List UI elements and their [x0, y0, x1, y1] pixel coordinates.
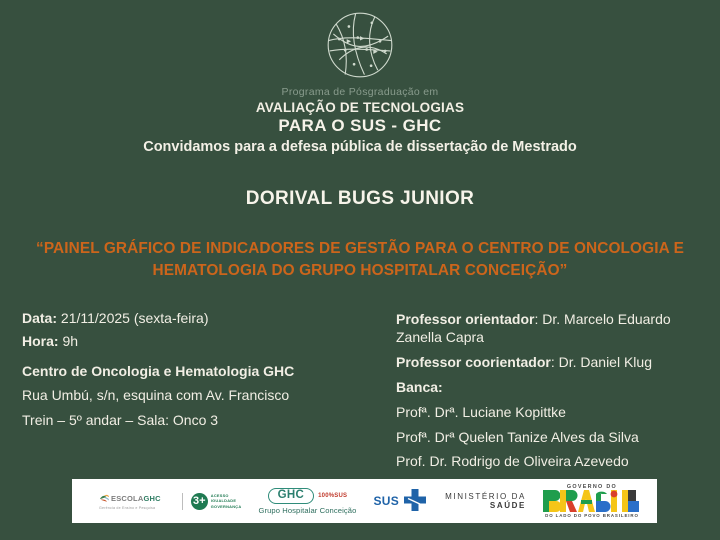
sus-cross-icon [402, 488, 428, 514]
grupo-hospitalar-conceicao-logo: GHC 100%SUS Grupo Hospitalar Conceição [258, 488, 356, 515]
date-value: 21/11/2025 (sexta-feira) [57, 310, 209, 326]
escola-ghc-logo: ESCOLAGHC Gerência de Ensino e Pesquisa [82, 492, 161, 511]
coadvisor-value: : Dr. Daniel Klug [551, 354, 652, 370]
event-details-column: Data: 21/11/2025 (sexta-feira) Hora: 9h … [22, 311, 382, 437]
escola-ghc-subtitle: Gerência de Ensino e Pesquisa [98, 506, 155, 510]
date-label: Data: [22, 310, 57, 326]
board-member: Prof. Dr. Rodrigo de Oliveira Azevedo [396, 453, 706, 471]
thesis-title: “PAINEL GRÁFICO DE INDICADORES DE GESTÃO… [36, 238, 684, 282]
time-label: Hora: [22, 333, 59, 349]
program-subtitle: Programa de Pósgraduação em [282, 86, 439, 98]
brasil-wordmark-icon [543, 490, 641, 512]
time-row: Hora: 9h [22, 334, 382, 349]
time-value: 9h [59, 333, 78, 349]
advisor-label: Professor orientador [396, 311, 534, 327]
tres-mais-badge: 3+ [191, 493, 208, 510]
coadvisor-row: Professor coorientador: Dr. Daniel Klug [396, 354, 706, 372]
defense-invitation-poster: Programa de Pósgraduação em AVALIAÇÃO DE… [0, 0, 720, 540]
board-member: Profª. Drª. Luciane Kopittke [396, 404, 706, 422]
ghc-wordmark: GHC [268, 488, 314, 504]
ministerio-da-saude-logo: MINISTÉRIO DA SAÚDE [445, 492, 526, 510]
circular-network-globe-icon [323, 8, 397, 82]
board-member: Profª. Drª Quelen Tanize Alves da Silva [396, 429, 706, 447]
ghc-full-name: Grupo Hospitalar Conceição [258, 506, 356, 515]
ministerio-line-2: SAÚDE [490, 501, 526, 510]
sus-wordmark: SUS [373, 494, 399, 508]
escola-ghc-wordmark: ESCOLAGHC [111, 494, 161, 503]
brasil-tagline: DO LADO DO POVO BRASILEIRO [545, 513, 639, 518]
venue-address-line-2: Trein – 5º andar – Sala: Onco 3 [22, 413, 382, 428]
advisor-row: Professor orientador: Dr. Marcelo Eduard… [396, 311, 706, 347]
candidate-name: DORIVAL BUGS JUNIOR [0, 188, 720, 210]
ghc-sus-percent-badge: 100%SUS [318, 493, 347, 499]
tres-mais-value: GOVERNANÇA [211, 504, 242, 510]
details-columns: Data: 21/11/2025 (sexta-feira) Hora: 9h … [0, 311, 720, 471]
program-target-line: PARA O SUS - GHC [278, 116, 441, 136]
date-row: Data: 21/11/2025 (sexta-feira) [22, 311, 382, 326]
escola-ghc-leaf-icon [98, 492, 111, 505]
program-brand-block: Programa de Pósgraduação em AVALIAÇÃO DE… [0, 8, 720, 136]
program-name-line: AVALIAÇÃO DE TECNOLOGIAS [256, 100, 464, 115]
venue-address-line-1: Rua Umbú, s/n, esquina com Av. Francisco [22, 388, 382, 403]
invitation-line: Convidamos para a defesa pública de diss… [0, 139, 720, 155]
sus-logo: SUS [373, 488, 428, 514]
coadvisor-label: Professor coorientador [396, 354, 551, 370]
governo-do-brasil-logo: GOVERNO DO [543, 484, 647, 518]
tres-mais-logo: 3+ ACESSO IGUALDADE GOVERNANÇA [182, 493, 242, 510]
committee-column: Professor orientador: Dr. Marcelo Eduard… [396, 311, 706, 478]
institutional-logo-band: ESCOLAGHC Gerência de Ensino e Pesquisa … [72, 479, 657, 523]
board-label: Banca: [396, 379, 706, 397]
tres-mais-values: ACESSO IGUALDADE GOVERNANÇA [211, 493, 242, 510]
ministerio-line-1: MINISTÉRIO DA [445, 492, 526, 501]
venue-name: Centro de Oncologia e Hematologia GHC [22, 364, 382, 379]
